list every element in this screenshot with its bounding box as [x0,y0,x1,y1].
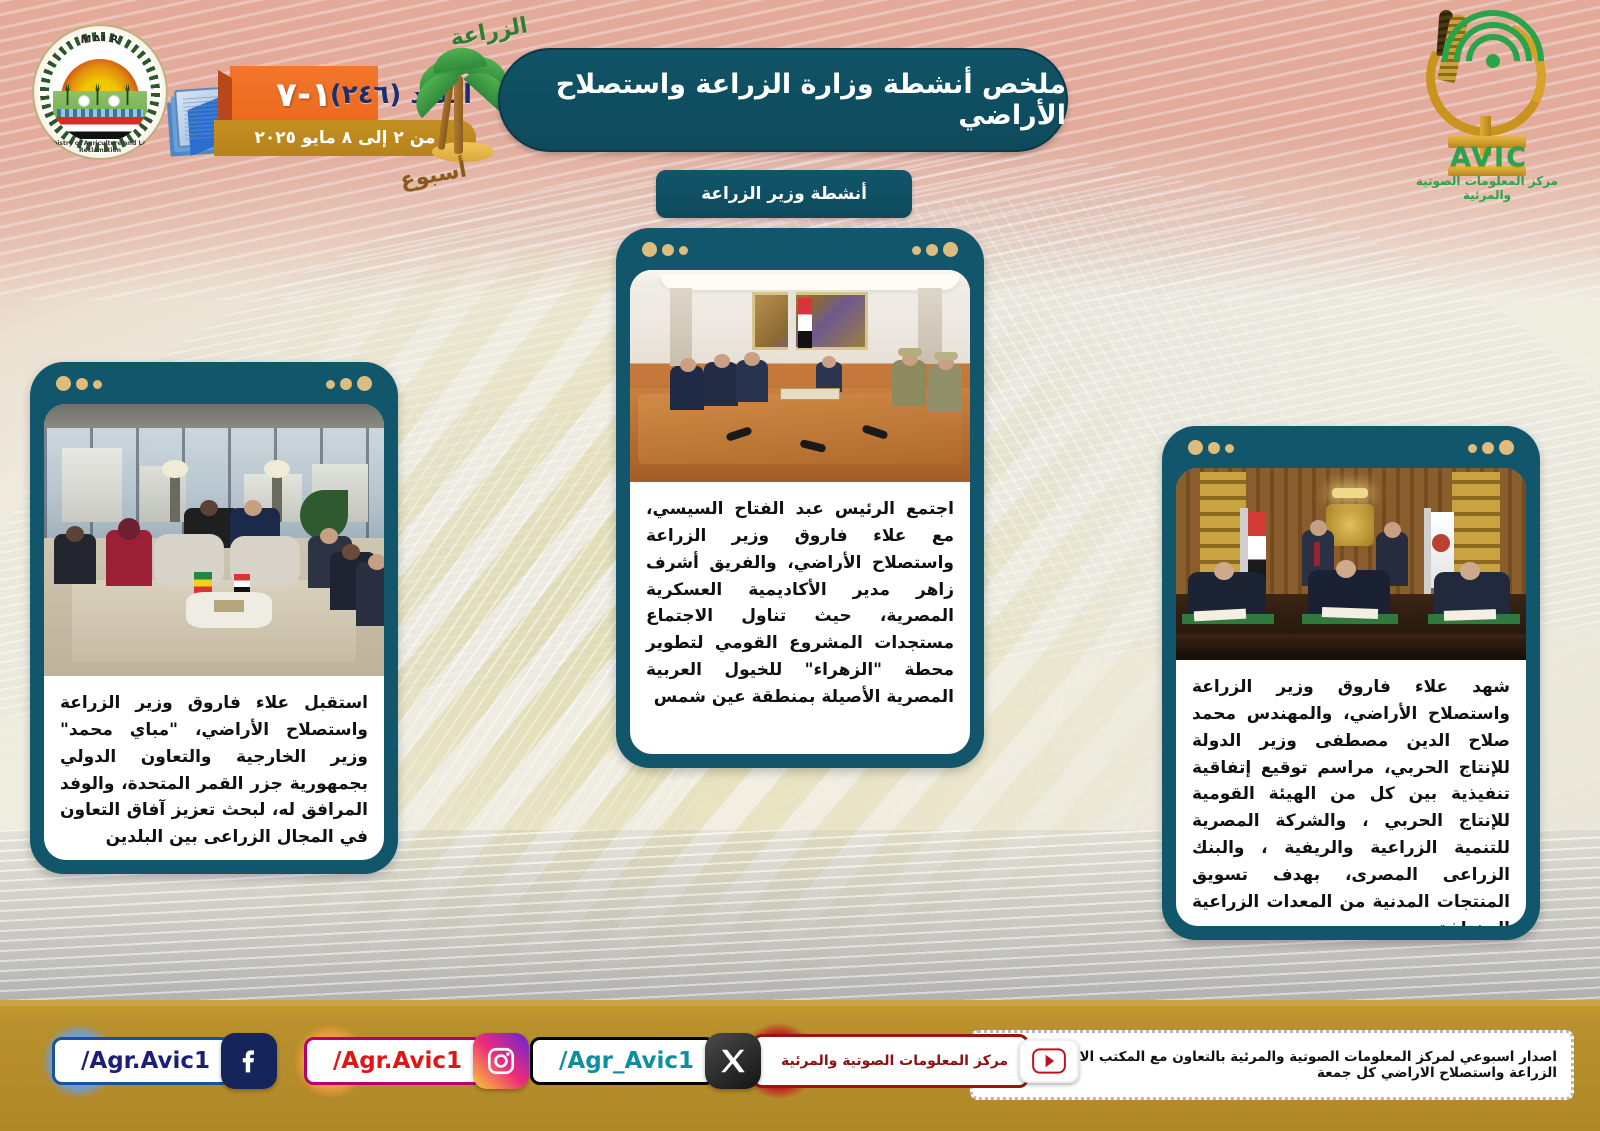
card-photo-signing-ceremony [1176,468,1526,660]
x-twitter-handle[interactable]: /Agr_Avic1 [530,1037,715,1085]
news-card-left[interactable]: استقبل علاء فاروق وزير الزراعة واستصلاح … [30,362,398,874]
card-caption-left: استقبل علاء فاروق وزير الزراعة واستصلاح … [44,676,384,860]
card-dots-decoration [1162,440,1540,458]
youtube-handle-text: مركز المعلومات الصوتية والمرئية [781,1053,1008,1069]
malr-emblem-logo: MALR Ministry of Agriculture and Land Re… [32,24,168,160]
palm-word-top-text: الزراعة [448,13,529,51]
palm-trunk-shape [454,76,463,154]
page-title-text: ملخص أنشطة وزارة الزراعة واستصلاح الأراض… [500,69,1066,131]
avic-arabic-name-text: مركز المعلومات الصوتية والمرئية [1392,174,1582,202]
card-dots-decoration [616,242,984,260]
social-link-x-twitter[interactable]: /Agr_Avic1 [530,1028,761,1094]
card-caption-right: شهد علاء فاروق وزير الزراعة واستصلاح الأ… [1176,660,1526,926]
facebook-icon[interactable] [221,1033,277,1089]
social-link-instagram[interactable]: /Agr.Avic1 [304,1028,529,1094]
card-photo-presidential-meeting [630,270,970,482]
card-photo-diplomatic-meeting [44,404,384,676]
cotton-boll-icon [109,96,119,106]
malr-emblem-inner [49,41,151,143]
card-body: استقبل علاء فاروق وزير الزراعة واستصلاح … [44,404,384,860]
news-card-right[interactable]: شهد علاء فاروق وزير الزراعة واستصلاح الأ… [1162,426,1540,940]
avic-logo: AVIC مركز المعلومات الصوتية والمرئية [1392,8,1582,188]
instagram-handle[interactable]: /Agr.Avic1 [304,1037,483,1085]
cotton-boll-icon [79,96,89,106]
page-title: ملخص أنشطة وزارة الزراعة واستصلاح الأراض… [498,48,1068,152]
card-caption-center: اجتمع الرئيس عبد الفتاح السيسي، مع علاء … [630,482,970,721]
section-subtitle: أنشطة وزير الزراعة [656,170,912,218]
issue-number-text: ١-٧ [276,75,332,115]
x-twitter-icon[interactable] [705,1033,761,1089]
section-subtitle-text: أنشطة وزير الزراعة [701,184,867,204]
signal-center-dot-icon [1486,54,1500,68]
facebook-handle-text: /Agr.Avic1 [81,1048,210,1074]
social-link-facebook[interactable]: /Agr.Avic1 [52,1028,277,1094]
instagram-icon[interactable] [473,1033,529,1089]
egypt-flag-ribbon [51,117,149,139]
card-dots-decoration [30,376,398,394]
avic-acronym-text: AVIC [1444,142,1534,173]
youtube-handle[interactable]: مركز المعلومات الصوتية والمرئية [752,1034,1029,1088]
footer-bar: /Agr.Avic1 /Agr.Avic1 /Agr_Avic1 [0,1000,1600,1131]
card-body: شهد علاء فاروق وزير الزراعة واستصلاح الأ… [1176,468,1526,926]
palm-word-bottom-text: أسبوع [398,157,468,193]
instagram-handle-text: /Agr.Avic1 [333,1048,462,1074]
x-twitter-handle-text: /Agr_Avic1 [559,1048,694,1074]
youtube-icon[interactable] [1019,1039,1079,1083]
card-body: اجتمع الرئيس عبد الفتاح السيسي، مع علاء … [630,270,970,754]
facebook-handle[interactable]: /Agr.Avic1 [52,1037,231,1085]
news-card-center[interactable]: اجتمع الرئيس عبد الفتاح السيسي، مع علاء … [616,228,984,768]
malr-fullname-text: Ministry of Agriculture and Land Reclama… [32,140,168,154]
